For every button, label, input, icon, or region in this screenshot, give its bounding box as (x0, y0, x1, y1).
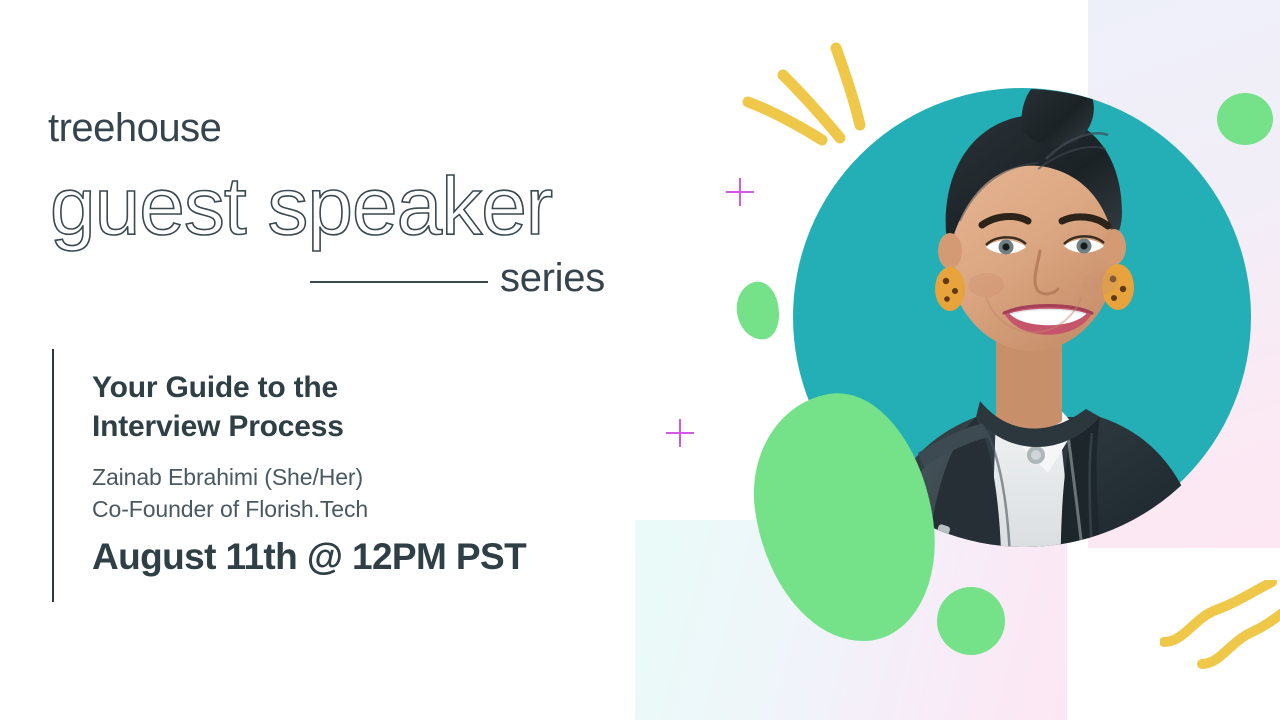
green-circle-mid (937, 587, 1005, 655)
series-divider-rule (310, 281, 488, 283)
detail-accent-rule (52, 349, 54, 602)
talk-title: Your Guide to the Interview Process (92, 368, 612, 446)
talk-title-line-1: Your Guide to the (92, 368, 612, 407)
green-blob-small (731, 278, 784, 343)
promo-graphic: treehouse guest speaker series Your Guid… (0, 0, 1280, 720)
text-column: treehouse guest speaker series Your Guid… (0, 0, 660, 720)
brand-name: treehouse (48, 108, 221, 148)
event-datetime: August 11th @ 12PM PST (92, 535, 526, 579)
speaker-name: Zainab Ebrahimi (She/Her) (92, 461, 363, 494)
headline-guest-speaker: guest speaker (42, 158, 662, 258)
plus-mark-icon-top (726, 178, 754, 206)
headline-outline-text: guest speaker (50, 161, 552, 252)
plus-mark-icon-bottom (666, 419, 694, 447)
speaker-role: Co-Founder of Florish.Tech (92, 493, 368, 526)
series-label: series (500, 258, 605, 298)
talk-title-line-2: Interview Process (92, 407, 612, 446)
